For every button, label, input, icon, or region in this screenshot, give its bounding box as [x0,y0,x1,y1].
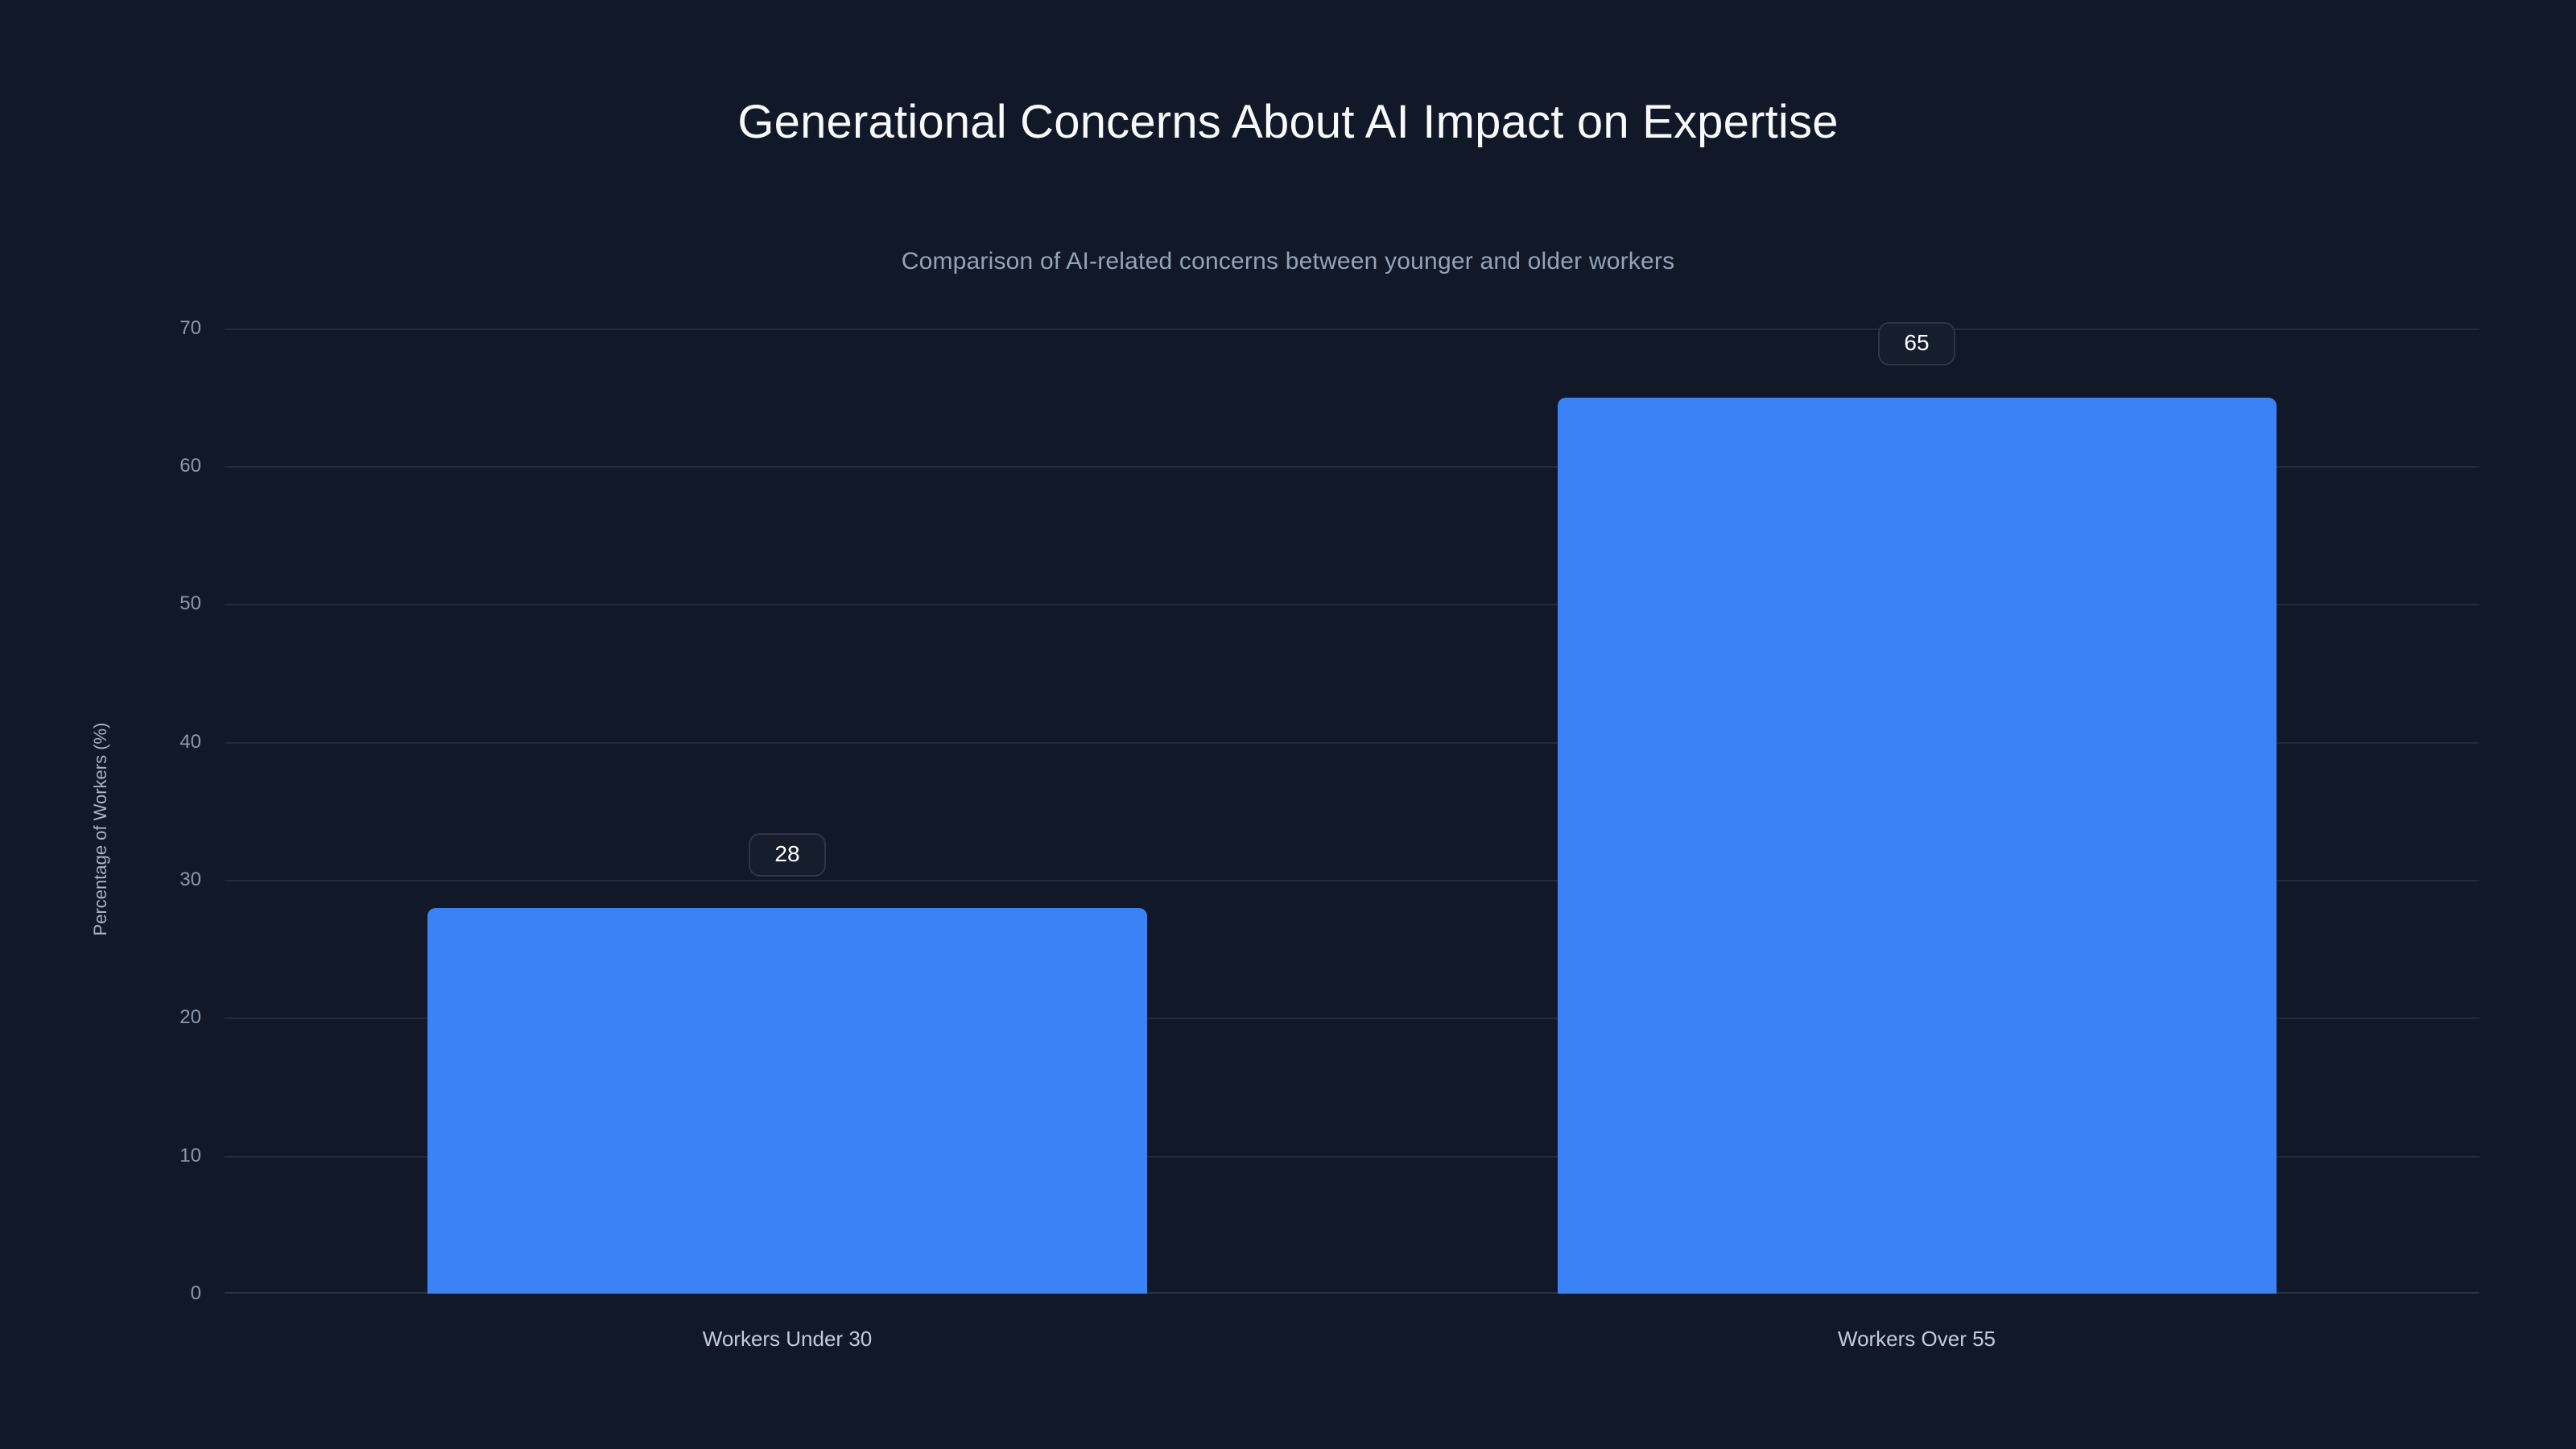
y-tick-label-10: 10 [105,1145,201,1167]
y-tick-label-30: 30 [105,869,201,891]
plot-area [225,328,2479,1294]
y-tick-label-0: 0 [105,1282,201,1305]
bar-workers-over-55[interactable] [1558,398,2277,1294]
value-badge-workers-over-55: 65 [1878,322,1955,365]
y-axis-title: Percentage of Workers (%) [90,660,111,998]
chart-title: Generational Concerns About AI Impact on… [0,97,2576,148]
y-tick-label-70: 70 [105,317,201,340]
y-tick-label-20: 20 [105,1006,201,1029]
x-tick-label-workers-under-30: Workers Under 30 [703,1327,873,1352]
chart-canvas: Generational Concerns About AI Impact on… [0,0,2576,1449]
bar-workers-under-30[interactable] [427,908,1147,1294]
chart-subtitle: Comparison of AI-related concerns betwee… [0,248,2576,275]
y-tick-label-40: 40 [105,731,201,753]
x-tick-label-workers-over-55: Workers Over 55 [1838,1327,1996,1352]
gridline-70 [225,328,2479,330]
y-tick-label-60: 60 [105,455,201,477]
y-tick-label-50: 50 [105,592,201,615]
value-badge-workers-under-30: 28 [749,833,826,877]
